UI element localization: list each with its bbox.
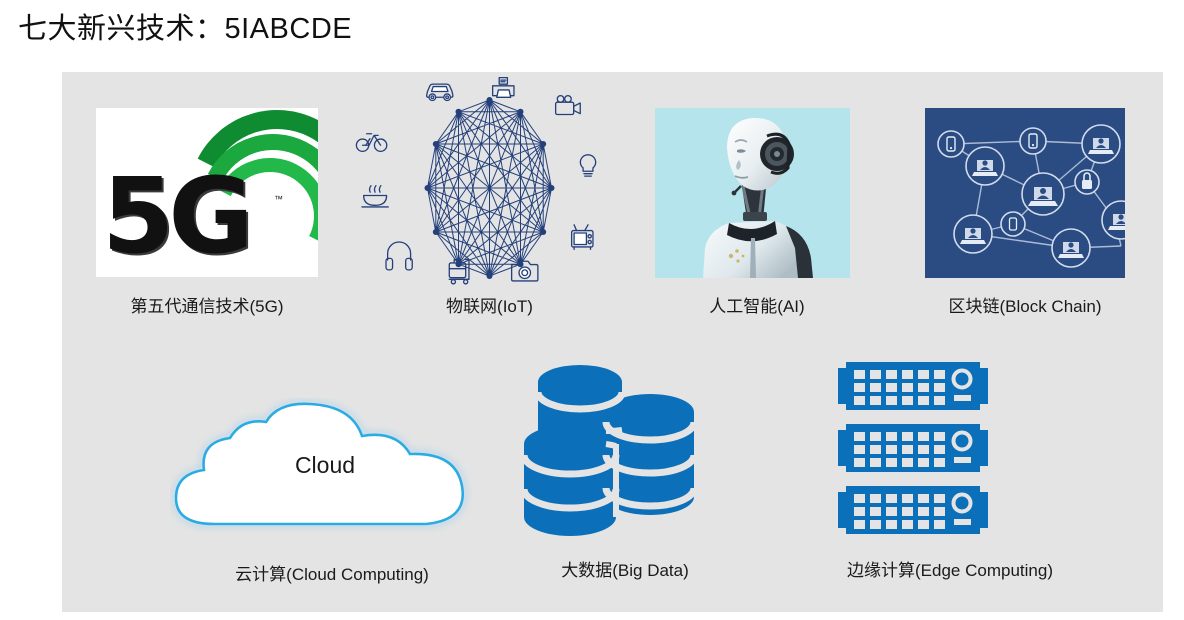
database-stack-icon — [520, 362, 710, 547]
node-phone — [1020, 128, 1046, 154]
light-bulb-icon — [580, 155, 595, 176]
bicycle-icon — [356, 134, 386, 152]
blockchain-network-graphic — [925, 108, 1125, 278]
node-phone — [938, 131, 964, 157]
car-icon — [427, 84, 453, 100]
node-laptop — [1082, 125, 1120, 163]
5g-logo-text: 5G — [102, 164, 248, 268]
photo-camera-icon — [512, 261, 538, 281]
tech-label-5g: 第五代通信技术(5G) — [62, 296, 352, 318]
tech-item-blockchain[interactable]: 区块链(Block Chain) — [887, 100, 1163, 340]
humanoid-robot-photo — [655, 108, 850, 278]
cloud-label-text: Cloud — [170, 452, 480, 479]
5g-logo-icon: 5G ™ — [96, 108, 318, 277]
iot-mesh-network-icon — [352, 76, 627, 292]
printer-icon — [493, 78, 514, 98]
node-laptop — [1022, 173, 1064, 215]
tech-label-blockchain: 区块链(Block Chain) — [887, 296, 1163, 318]
food-bowl-icon — [362, 186, 388, 207]
node-phone — [1001, 212, 1025, 236]
cloud-shape-icon: Cloud — [170, 398, 480, 533]
luggage-cart-icon — [449, 260, 469, 284]
slide-canvas: 七大新兴技术：5IABCDE 5G ™ 第五代通信技术(5G) — [0, 0, 1184, 620]
node-laptop — [966, 147, 1004, 185]
node-lock — [1075, 170, 1099, 194]
tech-item-edge[interactable]: 边缘计算(Edge Computing) — [740, 356, 1160, 600]
television-icon — [572, 225, 593, 250]
tech-item-iot[interactable]: 物联网(IoT) — [352, 76, 627, 340]
tech-item-bigdata[interactable]: 大数据(Big Data) — [480, 356, 770, 600]
tech-label-ai: 人工智能(AI) — [627, 296, 887, 318]
server-rack-icon — [838, 362, 988, 547]
trademark-symbol: ™ — [274, 194, 283, 204]
video-camera-icon — [556, 96, 581, 115]
tech-item-ai[interactable]: 人工智能(AI) — [627, 100, 887, 340]
headphones-icon — [386, 242, 412, 270]
tech-label-edge: 边缘计算(Edge Computing) — [740, 560, 1160, 582]
tech-label-bigdata: 大数据(Big Data) — [480, 560, 770, 582]
node-laptop — [1052, 229, 1090, 267]
node-laptop — [954, 215, 992, 253]
tech-label-iot: 物联网(IoT) — [352, 296, 627, 318]
tech-item-5g[interactable]: 5G ™ 第五代通信技术(5G) — [62, 100, 352, 340]
page-title: 七大新兴技术：5IABCDE — [18, 9, 352, 49]
